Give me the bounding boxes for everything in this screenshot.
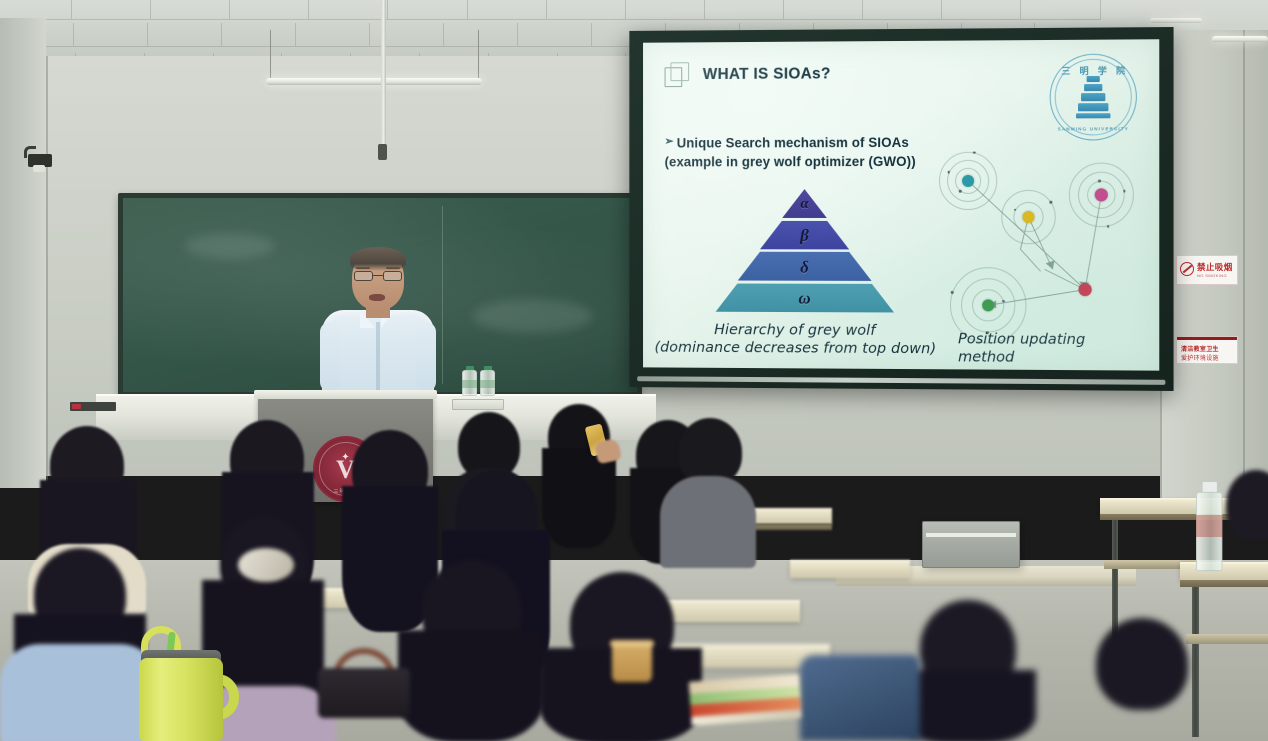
lamp-pendant-cap (378, 144, 387, 160)
ceiling-lamp (266, 78, 482, 85)
no-smoking-sign-cn: 禁止吸烟 (1197, 261, 1233, 273)
lamp-pendant-stem (381, 0, 386, 148)
handbag (318, 648, 410, 718)
stacked-books (689, 674, 802, 724)
desk-nameplate (452, 399, 504, 410)
slide-bullet-text: Unique Search mechanism of SIOAs (677, 133, 909, 153)
pyramid-tier-symbol: ω (798, 289, 810, 309)
screen-bottom-rail (637, 376, 1165, 385)
student (660, 418, 756, 568)
orbit-marker (973, 151, 976, 154)
wall-seam (46, 56, 48, 486)
pyramid-caption-line2: (dominance decreases from top down) (647, 339, 944, 359)
student-jeans (800, 655, 920, 741)
slide-bullet-text: (example in grey wolf optimizer (GWO)) (665, 152, 916, 172)
chalk-smudge (185, 233, 275, 259)
water-bottle (462, 366, 477, 396)
delta-node (1095, 188, 1108, 201)
water-bottle (480, 366, 495, 396)
pyramid-tier-alpha: α (782, 189, 827, 218)
presenter-brow (386, 267, 400, 269)
fire-safety-sign-sub: 爱护环境设施 (1181, 353, 1219, 362)
presenter (322, 250, 434, 400)
no-smoking-sign: 禁止吸烟 NO SMOKING (1176, 255, 1238, 285)
alpha-node (962, 175, 974, 187)
chalkboard-divider (442, 206, 443, 384)
presenter-arm-right (416, 322, 436, 392)
podium-control-panel[interactable] (70, 402, 116, 411)
pyramid-caption-line1: Hierarchy of grey wolf (647, 321, 944, 341)
beta-node (1022, 211, 1034, 223)
orbit-marker (1050, 201, 1053, 204)
seal-tower-mark (1076, 76, 1110, 118)
position-caption-line2: method (958, 349, 1140, 368)
tan-cup (612, 640, 652, 682)
student-desk-row (790, 560, 910, 578)
pyramid-tier-omega: ω (716, 283, 894, 313)
position-updating-caption: Position updating method (958, 330, 1140, 368)
slide-header: WHAT IS SIOAs? (665, 61, 831, 88)
university-seal-logo: 三明学院 SANMING UNIVERSITY (1050, 54, 1137, 141)
presenter-brow (356, 267, 370, 269)
grey-wolf-hierarchy-pyramid: αβδω (716, 189, 894, 315)
lamp-wire (478, 30, 479, 82)
sign-top-bar (1177, 337, 1237, 340)
podium-top-surface (254, 390, 437, 399)
presentation-slide: WHAT IS SIOAs? 三明学院 SANMING UNIVERSITY ➢ (643, 39, 1159, 370)
seal-en-text: SANMING UNIVERSITY (1050, 126, 1137, 131)
lamp-wire (270, 30, 271, 82)
wall-seam (1243, 30, 1245, 500)
pyramid-tier-delta: δ (738, 252, 872, 281)
student-head (1096, 618, 1188, 710)
bullet-marker-icon: ➢ (665, 134, 674, 151)
handbag-body (318, 668, 410, 718)
pyramid-tier-symbol: δ (800, 257, 809, 277)
ceiling-lamp (1150, 18, 1202, 23)
presenter-shirt-placket (376, 322, 380, 400)
pyramid-tier-symbol: α (800, 196, 808, 213)
equipment-box-slot (926, 533, 1016, 537)
student (1226, 470, 1268, 610)
presenter-arm-left (320, 322, 340, 392)
no-smoking-icon (1180, 262, 1194, 276)
water-bottle (1196, 482, 1222, 568)
pyramid-tier-beta: β (760, 220, 849, 249)
fire-safety-sign-cn: 清洁教室卫生 (1181, 344, 1219, 353)
tumbler-body (139, 658, 223, 741)
orbit-marker (1107, 225, 1110, 228)
position-updating-diagram (932, 144, 1134, 326)
lecture-hall-scene: 禁止吸烟 NO SMOKING 清洁教室卫生 爱护环境设施 WHAT IS SI… (0, 0, 1268, 741)
orbit-marker (951, 291, 954, 294)
slide-title: WHAT IS SIOAs? (703, 65, 831, 84)
wall-equipment-box (922, 521, 1020, 568)
water-tumbler (133, 632, 239, 741)
camera-lens (33, 165, 45, 172)
presenter-glasses (354, 271, 402, 281)
left-wall-return (0, 18, 46, 488)
projection-screen: WHAT IS SIOAs? 三明学院 SANMING UNIVERSITY ➢ (629, 27, 1173, 391)
pyramid-caption: Hierarchy of grey wolf (dominance decrea… (647, 321, 944, 359)
fire-safety-sign: 清洁教室卫生 爱护环境设施 (1176, 336, 1238, 364)
omega-node (982, 299, 994, 311)
no-smoking-sign-sub: NO SMOKING (1197, 273, 1227, 278)
chalk-smudge (473, 299, 593, 333)
student (1060, 618, 1220, 741)
student-torso (660, 476, 756, 568)
pyramid-tier-symbol: β (800, 226, 809, 246)
hair-scrunchie (238, 548, 294, 582)
position-caption-line1: Position updating (958, 330, 1140, 349)
wall-camera (24, 146, 54, 172)
ceiling-tile (1009, 0, 1101, 20)
target-node (1079, 283, 1092, 296)
student-head (1226, 470, 1268, 540)
bracket-frames-icon (665, 62, 691, 88)
ceiling-lamp (1212, 36, 1268, 42)
presenter-mouth (369, 294, 385, 301)
